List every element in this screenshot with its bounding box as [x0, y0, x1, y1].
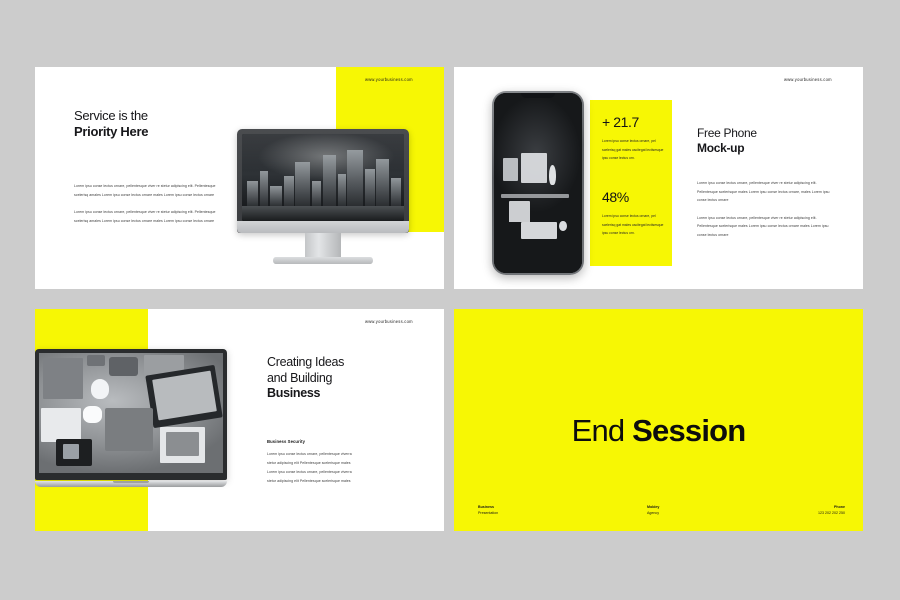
macbook-lid	[35, 349, 227, 480]
slide-service-priority[interactable]: www.yourbusiness.com Service is the Prio…	[35, 67, 444, 289]
title-line-light: Free Phone	[697, 126, 757, 141]
site-url: www.yourbusiness.com	[784, 77, 832, 82]
macbook-screen	[39, 353, 223, 473]
imac-stand-neck	[305, 233, 341, 259]
page-title: Creating Ideas and Building Business	[267, 355, 344, 401]
dark-desk-photo	[494, 93, 581, 272]
stat-value: + 21.7	[602, 114, 639, 130]
body-line: Lorem ipsu conse lectus ornare, pellente…	[267, 468, 387, 477]
imac-screen	[242, 134, 404, 221]
slide-free-phone-mockup[interactable]: www.yourbusiness.com + 21.7	[454, 67, 863, 289]
title-line-bold: Mock-up	[697, 141, 757, 156]
body-paragraph: Lorem ipsu conse lectus ornare, pellente…	[74, 182, 219, 199]
imac-body	[237, 129, 409, 233]
body-copy: Lorem ipsu conse lectus ornare, pellente…	[74, 182, 219, 234]
iphone-notch	[521, 93, 555, 98]
section-subheading: Business Security	[267, 439, 305, 444]
footer-value: Agency	[647, 510, 659, 516]
title-bold: Session	[632, 413, 745, 448]
body-paragraph: Lorem ipsu conse lectus ornare, pellente…	[697, 214, 830, 240]
body-paragraph: Lorem ipsu conse lectus ornare, pellente…	[74, 208, 219, 225]
city-skyline-photo	[242, 134, 404, 221]
title-line-bold: Priority Here	[74, 124, 148, 140]
title-line-light: Service is the	[74, 108, 148, 124]
desk-flatlay-photo	[39, 353, 223, 473]
body-line: Lorem ipsu conse lectus ornare, pellente…	[267, 450, 387, 459]
iphone-screen	[494, 93, 581, 272]
site-url: www.yourbusiness.com	[365, 77, 413, 82]
site-url: www.yourbusiness.com	[365, 319, 413, 324]
stat-copy: Lorem ipsu conse lectus ornare, pel scel…	[602, 137, 664, 163]
stat-value: 48%	[602, 189, 629, 205]
footer-phone: Phone 123 202 202 250	[818, 504, 845, 517]
footer-value: 123 202 202 250	[818, 510, 845, 516]
slide-end-session[interactable]: End Session Business Presentation Mobley…	[454, 309, 863, 531]
stat-copy-text: Lorem ipsu conse lectus ornare, pel scel…	[602, 212, 664, 238]
imac-chin	[237, 221, 409, 233]
iphone-mockup	[492, 91, 584, 275]
title-line-2: and Building	[267, 371, 344, 386]
slide-creating-ideas[interactable]: www.yourbusiness.com	[35, 309, 444, 531]
stat-copy: Lorem ipsu conse lectus ornare, pel scel…	[602, 212, 664, 238]
imac-stand-foot	[273, 257, 373, 264]
title-line-1: Creating Ideas	[267, 355, 344, 370]
macbook-base	[35, 481, 227, 487]
body-line: stetur adipiscing elit Pellentesque scel…	[267, 477, 387, 486]
page-title: Service is the Priority Here	[74, 108, 148, 140]
body-copy: Lorem ipsu conse lectus ornare, pellente…	[267, 450, 387, 486]
macbook-mockup	[35, 349, 227, 487]
body-copy: Lorem ipsu conse lectus ornare, pellente…	[697, 179, 830, 248]
iphone-frame	[492, 91, 584, 275]
title-line-bold: Business	[267, 386, 344, 401]
slide-deck-preview: www.yourbusiness.com Service is the Prio…	[0, 0, 900, 600]
body-line: stetur adipiscing elit Pellentesque scel…	[267, 459, 387, 468]
stat-copy-text: Lorem ipsu conse lectus ornare, pel scel…	[602, 137, 664, 163]
macbook-notch	[113, 481, 149, 483]
footer-agency: Mobley Agency	[647, 504, 659, 517]
page-title: End Session	[454, 413, 863, 449]
footer-value: Presentation	[478, 510, 498, 516]
page-title: Free Phone Mock-up	[697, 126, 757, 155]
title-light: End	[572, 413, 633, 448]
footer-business: Business Presentation	[478, 504, 498, 517]
body-paragraph: Lorem ipsu conse lectus ornare, pellente…	[697, 179, 830, 205]
